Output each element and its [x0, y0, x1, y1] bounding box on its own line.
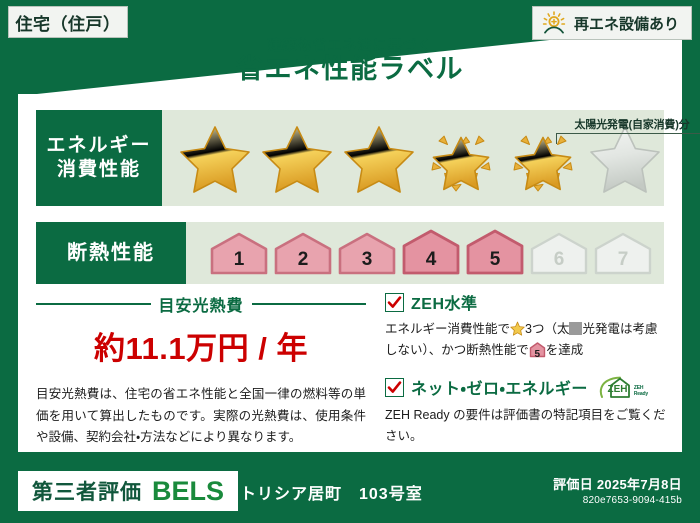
star-icon-5-solar — [504, 121, 582, 195]
star-icon-6-empty — [586, 121, 664, 195]
zeh-house-icon: ZEH — [598, 375, 632, 400]
net-zero-body: ZEH Ready の要件は評価書の特記項目をご覧ください。 — [385, 405, 667, 448]
insulation-level-6: 6 — [528, 229, 590, 277]
insulation-level-3-label: 3 — [336, 249, 398, 271]
net-zero-energy-block: ネット・ゼロ・エネルギー ZEH ZEH Ready ZEH Ready の要件… — [385, 375, 667, 448]
zeh-logo: ZEH ZEH Ready — [598, 375, 648, 400]
zeh-standard-title-row: ZEH水準 — [385, 290, 667, 314]
zeh-ready-sublabel: ZEH Ready — [634, 386, 648, 400]
insulation-level-6-label: 6 — [528, 249, 590, 271]
heading-subtitle: 建築物省エネ法に基づく — [0, 38, 700, 53]
insulation-level-4-label: 4 — [400, 249, 462, 271]
zeh-ready-line2: Ready — [634, 391, 648, 397]
insulation-level-5: 5 — [464, 229, 526, 277]
insulation-level-5-label: 5 — [464, 249, 526, 271]
energy-performance-label: 住宅（住戸） 再エネ設備あり 建築物省エネ法に基づく — [0, 0, 700, 523]
evaluation-date: 評価日 2025年7月8日 — [553, 474, 682, 493]
insulation-level-1: 1 — [208, 229, 270, 277]
building-name: トリシア居町 103号室 — [240, 480, 423, 504]
bels-logo-text: BELS — [152, 476, 224, 507]
label-heading: 建築物省エネ法に基づく 省エネ性能ラベル — [0, 38, 700, 85]
net-zero-title-row: ネット・ゼロ・エネルギー ZEH ZEH Ready — [385, 375, 667, 400]
checkmark-icon-2 — [385, 378, 404, 397]
solar-equipment-badge: 再エネ設備あり — [532, 6, 692, 40]
energy-performance-value: 太陽光発電(自家消費)分 — [162, 110, 664, 206]
zeh-standard-body: エネルギー消費性能で3つ（太光発電は考慮しない）、かつ断熱性能で5を達成 — [385, 319, 667, 362]
star-icon-1 — [176, 121, 254, 195]
insulation-level-1-label: 1 — [208, 249, 270, 271]
energy-key-line2: 消費性能 — [57, 158, 141, 182]
insulation-level-2: 2 — [272, 229, 334, 277]
zeh-standard-title: ZEH水準 — [411, 290, 478, 314]
evaluation-id: 820e7653-9094-415b — [553, 495, 682, 506]
insulation-level-scale: 1 2 3 4 5 — [186, 229, 654, 277]
utility-cost-section: 目安光熱費 約11.1万円 / 年 目安光熱費は、住宅の省エネ性能と全国一律の燃… — [36, 292, 366, 449]
insulation-level-3: 3 — [336, 229, 398, 277]
zeh-section: ZEH水準 エネルギー消費性能で3つ（太光発電は考慮しない）、かつ断熱性能で5を… — [385, 290, 667, 447]
energy-key-line1: エネルギー — [46, 134, 151, 158]
utility-cost-amount: 約11.1万円 / 年 — [36, 323, 366, 368]
zeh-body-part-d: を達成 — [546, 343, 584, 357]
redacted-character-block — [569, 322, 582, 335]
sun-icon — [541, 11, 567, 35]
insulation-level-7-label: 7 — [592, 249, 654, 271]
star-icon-4-solar — [422, 121, 500, 195]
star-rating — [162, 121, 664, 195]
star-icon-2 — [258, 121, 336, 195]
insulation-performance-key: 断熱性能 — [36, 222, 186, 284]
house-type-label: 住宅（住戸） — [16, 10, 121, 35]
zeh-body-part-b: 3つ（太 — [525, 322, 569, 336]
star-icon-3 — [340, 121, 418, 195]
utility-cost-note: 目安光熱費は、住宅の省エネ性能と全国一律の燃料等の単価を用いて算出したものです。… — [36, 384, 366, 449]
evaluation-info: 評価日 2025年7月8日 820e7653-9094-415b — [553, 474, 682, 506]
energy-performance-row: エネルギー 消費性能 — [36, 110, 664, 206]
insulation-level-7: 7 — [592, 229, 654, 277]
house-type-badge: 住宅（住戸） — [8, 6, 128, 38]
insulation-performance-row: 断熱性能 1 2 3 4 — [36, 222, 664, 284]
zeh-standard-block: ZEH水準 エネルギー消費性能で3つ（太光発電は考慮しない）、かつ断熱性能で5を… — [385, 290, 667, 362]
label-footer: 第三者評価 BELS トリシア居町 103号室 評価日 2025年7月8日 82… — [0, 461, 700, 523]
inline-badge-value: 5 — [529, 346, 546, 363]
inline-insulation-badge-icon: 5 — [529, 342, 546, 358]
energy-performance-key: エネルギー 消費性能 — [36, 110, 162, 206]
heading-rule-right — [252, 303, 367, 305]
bels-certification-badge: 第三者評価 BELS — [18, 471, 238, 511]
checkmark-icon — [385, 293, 404, 312]
net-zero-title: ネット・ゼロ・エネルギー — [411, 375, 588, 399]
insulation-key-label: 断熱性能 — [67, 241, 155, 266]
solar-equipment-label: 再エネ設備あり — [574, 13, 679, 34]
insulation-level-4: 4 — [400, 229, 462, 277]
insulation-level-2-label: 2 — [272, 249, 334, 271]
zeh-body-part-a: エネルギー消費性能で — [385, 322, 510, 336]
third-party-eval-label: 第三者評価 — [32, 476, 142, 506]
heading-rule-left — [36, 303, 151, 305]
inline-star-icon — [510, 321, 525, 336]
svg-text:ZEH: ZEH — [607, 384, 627, 395]
insulation-performance-value: 1 2 3 4 5 — [186, 222, 664, 284]
heading-title: 省エネ性能ラベル — [0, 54, 700, 85]
utility-cost-heading-label: 目安光熱費 — [159, 292, 244, 316]
utility-cost-heading: 目安光熱費 — [36, 292, 366, 316]
